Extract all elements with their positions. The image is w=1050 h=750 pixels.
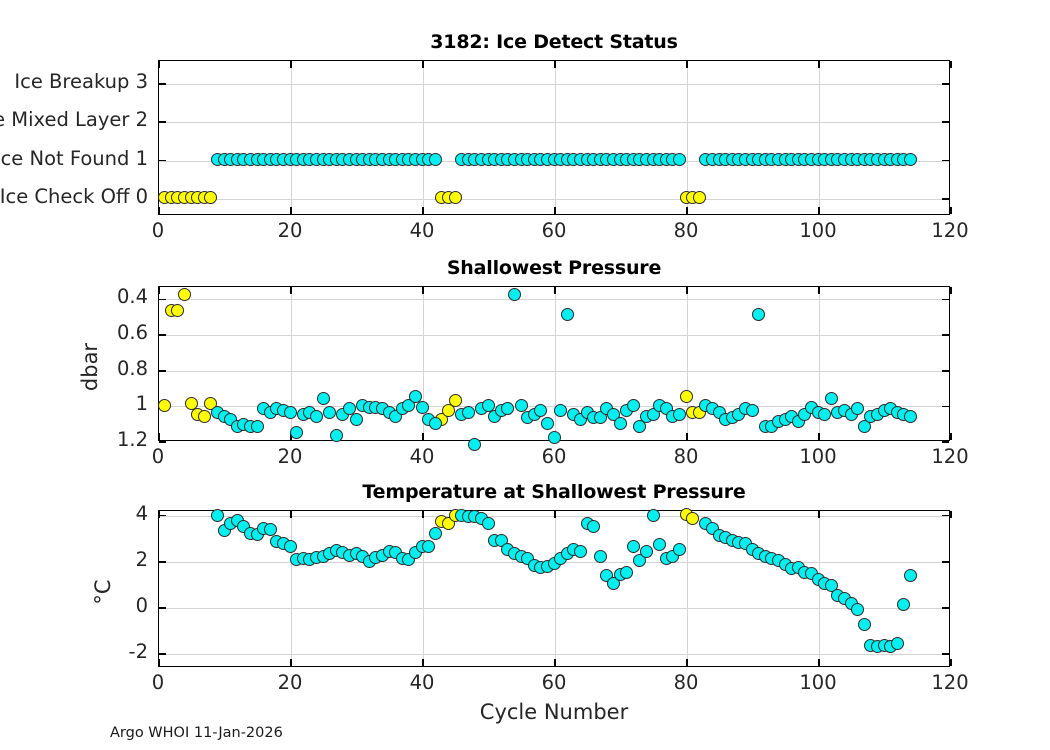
gridline-vertical	[687, 511, 688, 666]
data-point	[284, 540, 297, 553]
data-point	[416, 401, 429, 414]
x-axis-tick	[950, 511, 952, 518]
data-point	[429, 417, 442, 430]
data-point	[323, 406, 336, 419]
data-point	[673, 543, 686, 556]
data-point	[515, 399, 528, 412]
y-axis-tick	[159, 561, 166, 563]
gridline-vertical	[555, 511, 556, 666]
x-axis-tick	[950, 433, 952, 440]
data-point	[627, 399, 640, 412]
y-tick-label: 2	[68, 548, 148, 571]
x-tick-label: 40	[392, 445, 452, 468]
data-point	[541, 417, 554, 430]
x-axis-tick	[290, 511, 292, 518]
panel-3-title: Temperature at Shallowest Pressure	[158, 481, 950, 503]
gridline-horizontal	[159, 654, 949, 655]
y-axis-tick	[159, 607, 166, 609]
x-axis-tick	[290, 659, 292, 666]
data-point	[462, 406, 475, 419]
x-tick-label: 60	[524, 671, 584, 694]
x-tick-label: 40	[392, 671, 452, 694]
x-axis-tick	[158, 511, 160, 518]
x-axis-label: Cycle Number	[158, 700, 950, 724]
data-point	[158, 399, 171, 412]
data-point	[350, 413, 363, 426]
y-tick-label: 4	[68, 502, 148, 525]
x-tick-label: 100	[788, 671, 848, 694]
x-tick-label: 120	[920, 445, 980, 468]
y-axis-tick	[942, 334, 949, 336]
y-axis-tick	[159, 370, 166, 372]
x-axis-tick	[158, 433, 160, 440]
x-axis-tick	[818, 659, 820, 666]
argo-ice-detect-figure: 3182: Ice Detect Status Ice Check Off 0I…	[0, 0, 1050, 750]
data-point	[330, 429, 343, 442]
data-point	[594, 550, 607, 563]
data-point	[310, 410, 323, 423]
x-axis-tick	[818, 511, 820, 518]
y-tick-label: 0.6	[68, 321, 148, 344]
y-axis-tick	[942, 653, 949, 655]
y-axis-tick	[159, 441, 166, 443]
x-tick-label: 80	[656, 445, 716, 468]
data-point	[251, 420, 264, 433]
data-point	[752, 308, 765, 321]
y-axis-tick	[942, 441, 949, 443]
gridline-vertical	[291, 511, 292, 666]
y-tick-label: 1	[68, 392, 148, 415]
data-point	[449, 394, 462, 407]
gridline-vertical	[555, 287, 556, 440]
x-axis-tick	[554, 659, 556, 666]
data-point	[620, 566, 633, 579]
gridline-horizontal	[159, 335, 949, 336]
panel-temperature-at-shallowest-pressure: Temperature at Shallowest Pressure °C -2…	[0, 0, 1050, 300]
data-point	[284, 406, 297, 419]
x-axis-tick	[554, 511, 556, 518]
data-point	[818, 408, 831, 421]
y-axis-tick	[942, 370, 949, 372]
x-axis-tick	[422, 659, 424, 666]
y-tick-label: 0	[68, 594, 148, 617]
data-point	[825, 392, 838, 405]
x-axis-tick	[950, 659, 952, 666]
data-point	[290, 426, 303, 439]
figure-footer-note: Argo WHOI 11-Jan-2026	[110, 725, 283, 741]
y-tick-label: -2	[68, 640, 148, 663]
x-axis-tick	[686, 659, 688, 666]
data-point	[561, 308, 574, 321]
data-point	[429, 527, 442, 540]
data-point	[904, 410, 917, 423]
x-axis-tick	[422, 511, 424, 518]
gridline-vertical	[423, 511, 424, 666]
y-axis-tick	[942, 607, 949, 609]
data-point	[680, 390, 693, 403]
data-point	[614, 417, 627, 430]
gridline-horizontal	[159, 371, 949, 372]
data-point	[640, 545, 653, 558]
y-axis-tick	[159, 334, 166, 336]
x-tick-label: 20	[260, 671, 320, 694]
x-tick-label: 100	[788, 445, 848, 468]
data-point	[198, 410, 211, 423]
y-axis-tick	[942, 515, 949, 517]
x-tick-label: 60	[524, 445, 584, 468]
x-axis-tick	[422, 433, 424, 440]
data-point	[317, 392, 330, 405]
x-tick-label: 0	[128, 445, 188, 468]
data-point	[482, 517, 495, 530]
data-point	[548, 431, 561, 444]
data-point	[851, 603, 864, 616]
panel-2-plot-area	[158, 286, 950, 441]
x-axis-tick	[818, 433, 820, 440]
data-point	[587, 520, 600, 533]
y-axis-tick	[942, 561, 949, 563]
data-point	[574, 545, 587, 558]
x-tick-label: 20	[260, 445, 320, 468]
gridline-horizontal	[159, 608, 949, 609]
x-tick-label: 80	[656, 671, 716, 694]
x-tick-label: 0	[128, 671, 188, 694]
y-axis-tick	[159, 515, 166, 517]
y-axis-tick	[159, 653, 166, 655]
data-point	[686, 512, 699, 525]
x-axis-tick	[158, 659, 160, 666]
x-tick-label: 120	[920, 671, 980, 694]
y-tick-label: 0.8	[68, 357, 148, 380]
x-axis-tick	[686, 433, 688, 440]
data-point	[468, 438, 481, 451]
data-point	[673, 408, 686, 421]
data-point	[858, 618, 871, 631]
data-point	[647, 509, 660, 522]
y-axis-tick	[942, 406, 949, 408]
data-point	[746, 404, 759, 417]
